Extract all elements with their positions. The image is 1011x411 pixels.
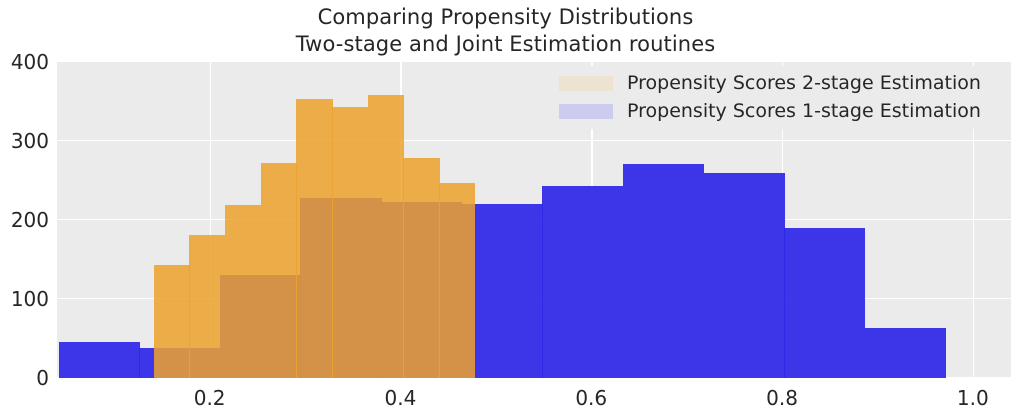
y-axis-tick-label: 300	[0, 131, 49, 151]
legend-label-2stage: Propensity Scores 2-stage Estimation	[627, 74, 981, 93]
figure-canvas: Comparing Propensity Distributions Two-s…	[0, 0, 1011, 411]
legend-swatch-2stage	[559, 76, 613, 91]
x-axis-tick-label: 0.8	[742, 388, 822, 408]
x-axis-tick-label: 0.4	[360, 388, 440, 408]
legend-item: Propensity Scores 1-stage Estimation	[559, 98, 981, 124]
legend-label-1stage: Propensity Scores 1-stage Estimation	[627, 102, 981, 121]
x-axis-tick-label: 0.2	[170, 388, 250, 408]
legend-swatch-1stage	[559, 104, 613, 119]
chart-legend: Propensity Scores 2-stage Estimation Pro…	[551, 66, 987, 129]
y-axis-tick-label: 200	[0, 210, 49, 230]
legend-item: Propensity Scores 2-stage Estimation	[559, 70, 981, 96]
axis-tick-labels: 01002003004000.20.40.60.81.0	[0, 0, 1011, 411]
x-axis-tick-label: 1.0	[933, 388, 1011, 408]
x-axis-tick-label: 0.6	[551, 388, 631, 408]
y-axis-tick-label: 400	[0, 52, 49, 72]
y-axis-tick-label: 0	[0, 368, 49, 388]
y-axis-tick-label: 100	[0, 289, 49, 309]
